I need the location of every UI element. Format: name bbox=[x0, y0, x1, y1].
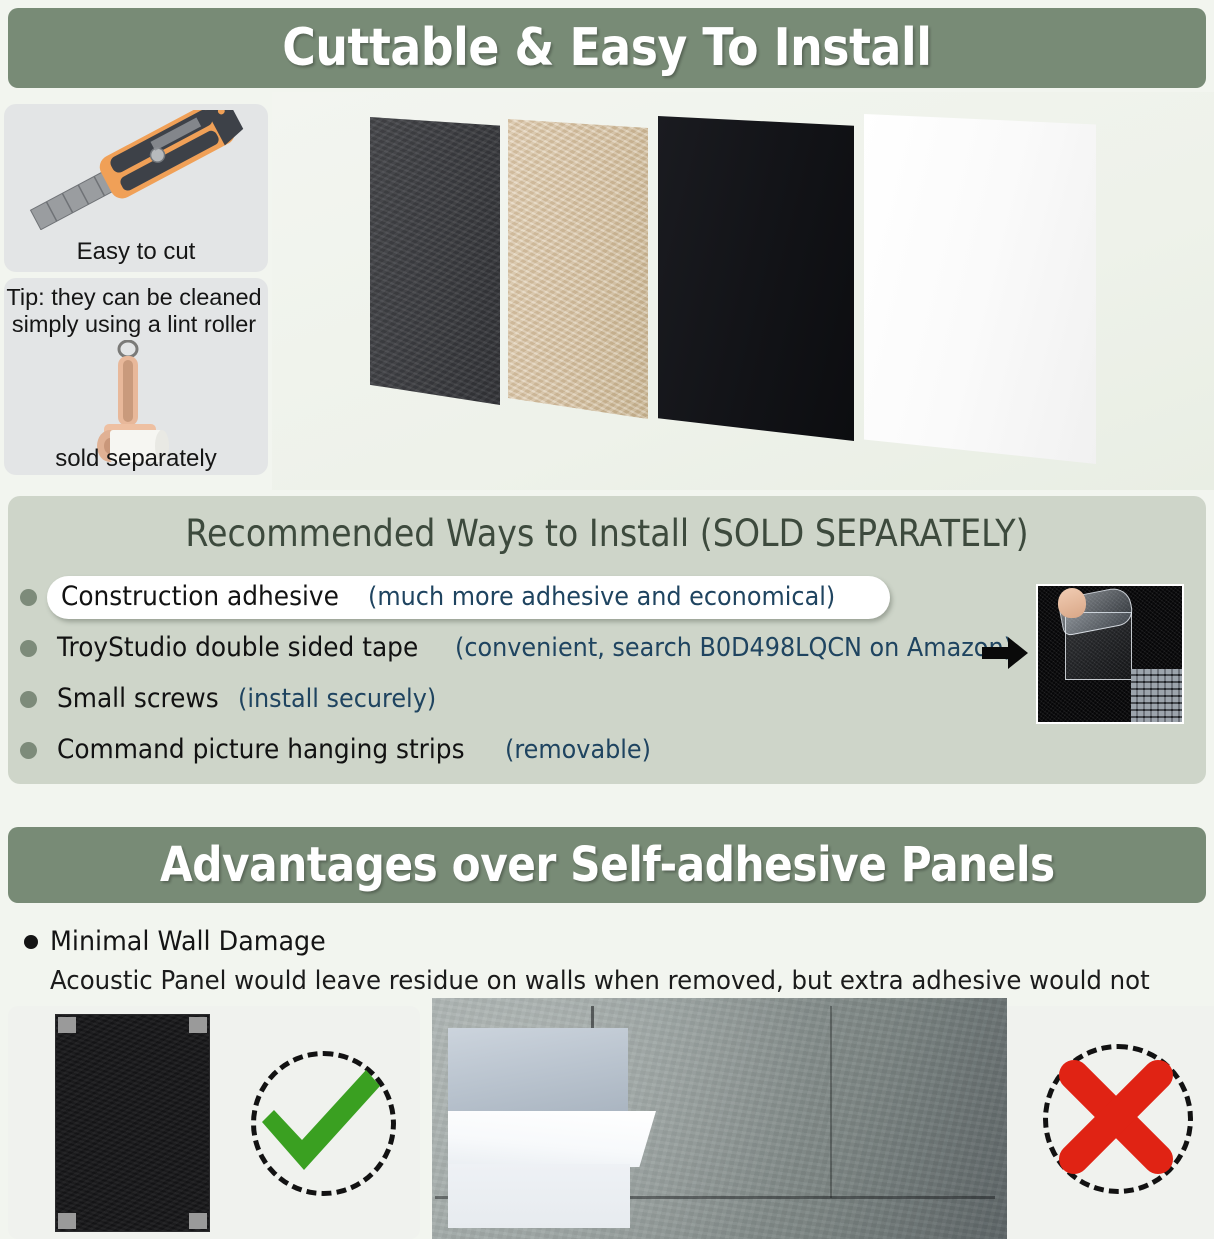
install-item-note: (much more adhesive and economical) bbox=[368, 582, 835, 612]
bullet-icon bbox=[20, 742, 37, 759]
check-dashed-circle bbox=[251, 1051, 396, 1196]
sold-separately-caption: sold separately bbox=[4, 445, 268, 473]
install-item-main: Construction adhesive bbox=[61, 581, 339, 612]
black-panel bbox=[658, 116, 854, 441]
banner-advantages: Advantages over Self-adhesive Panels bbox=[8, 827, 1206, 903]
corner-tab bbox=[58, 1017, 76, 1033]
install-item-main: Command picture hanging strips bbox=[57, 734, 465, 765]
good-example-card bbox=[8, 1006, 420, 1239]
install-section-title: Recommended Ways to Install (SOLD SEPARA… bbox=[68, 512, 1146, 555]
advantage-heading: Minimal Wall Damage bbox=[50, 926, 326, 957]
install-item-note: (removable) bbox=[505, 735, 651, 765]
install-item-body: TroyStudio double sided tape (convenient… bbox=[47, 629, 1071, 668]
bullet-icon bbox=[20, 691, 37, 708]
advantage-heading-row: Minimal Wall Damage bbox=[24, 926, 343, 957]
lint-roller-icon bbox=[66, 340, 206, 462]
peeling-panel-top bbox=[448, 1028, 628, 1112]
double-sided-tape-photo bbox=[1036, 584, 1184, 724]
install-item-body: Construction adhesive (much more adhesiv… bbox=[47, 576, 890, 619]
banner-cuttable-easy-install: Cuttable & Easy To Install bbox=[8, 8, 1206, 88]
list-item[interactable]: TroyStudio double sided tape (convenient… bbox=[20, 623, 1030, 673]
easy-to-cut-card: Easy to cut bbox=[4, 104, 268, 272]
install-methods-list: Construction adhesive (much more adhesiv… bbox=[20, 572, 1030, 776]
list-item[interactable]: Command picture hanging strips (removabl… bbox=[20, 725, 1030, 775]
corner-tab bbox=[189, 1017, 207, 1033]
install-item-note: (convenient, search B0D498LQCN on Amazon… bbox=[455, 633, 1013, 663]
infographic-page: Cuttable & Easy To Install bbox=[0, 0, 1214, 1239]
utility-knife-icon bbox=[12, 110, 260, 230]
concrete-wall-residue-photo bbox=[432, 998, 1007, 1239]
install-item-body: Command picture hanging strips (removabl… bbox=[47, 731, 674, 770]
bad-example-card bbox=[1007, 1006, 1214, 1239]
install-item-main: Small screws bbox=[57, 683, 219, 714]
list-item[interactable]: Small screws (install securely) bbox=[20, 674, 1030, 724]
tools-column: Easy to cut Tip: they can be cleaned sim… bbox=[4, 104, 268, 475]
acoustic-panels-showcase bbox=[272, 92, 1214, 490]
black-felt-panel-with-corner-tabs bbox=[55, 1014, 210, 1232]
white-panel bbox=[864, 114, 1096, 464]
section-panels-and-tools: Easy to cut Tip: they can be cleaned sim… bbox=[0, 92, 1214, 490]
peeling-panel-fold bbox=[448, 1111, 656, 1167]
corner-tab bbox=[58, 1213, 76, 1229]
red-x-icon bbox=[1046, 1047, 1186, 1187]
lint-roller-tip: Tip: they can be cleaned simply using a … bbox=[4, 284, 264, 338]
right-arrow-icon bbox=[982, 636, 1028, 670]
banner-mid-text: Advantages over Self-adhesive Panels bbox=[160, 837, 1055, 893]
beige-felt-panel bbox=[508, 119, 648, 419]
lint-roller-card: Tip: they can be cleaned simply using a … bbox=[4, 278, 268, 475]
bullet-icon bbox=[20, 640, 37, 657]
list-item[interactable]: Construction adhesive (much more adhesiv… bbox=[20, 572, 1030, 622]
bullet-icon bbox=[20, 589, 37, 606]
install-item-body: Small screws (install securely) bbox=[47, 680, 463, 719]
bullet-icon bbox=[24, 935, 38, 949]
advantage-description: Acoustic Panel would leave residue on wa… bbox=[50, 966, 1150, 996]
peeling-panel-bottom bbox=[448, 1164, 630, 1228]
install-item-note: (install securely) bbox=[238, 684, 436, 714]
dark-gray-felt-panel bbox=[370, 117, 500, 405]
cross-dashed-circle bbox=[1043, 1044, 1193, 1194]
easy-to-cut-caption: Easy to cut bbox=[4, 238, 268, 266]
corner-tab bbox=[189, 1213, 207, 1229]
banner-top-text: Cuttable & Easy To Install bbox=[282, 18, 931, 78]
green-check-icon bbox=[254, 1054, 389, 1189]
install-item-main: TroyStudio double sided tape bbox=[57, 632, 418, 663]
